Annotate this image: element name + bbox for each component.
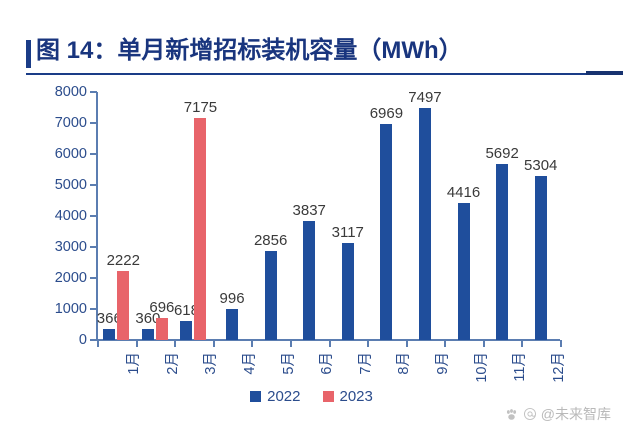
bar-2023-1月[interactable] [117, 271, 129, 340]
data-label-2022-11月: 5692 [485, 145, 518, 162]
watermark-label: @未来智库 [541, 404, 611, 424]
x-axis-tick [367, 340, 369, 347]
bar-2022-5月[interactable] [265, 251, 277, 340]
y-axis-tick [90, 339, 97, 341]
watermark: @未来智库 [504, 404, 611, 424]
x-axis-label-8月: 8月 [392, 352, 413, 375]
bar-2022-1月[interactable] [103, 329, 115, 340]
bar-2022-8月[interactable] [380, 124, 392, 340]
x-axis-tick [97, 340, 99, 347]
x-axis-tick [174, 340, 176, 347]
data-label-2022-10月: 4416 [447, 184, 480, 201]
legend-label-2022: 2022 [267, 388, 300, 405]
y-axis-tick [90, 246, 97, 248]
bar-2022-3月[interactable] [180, 321, 192, 340]
plot-area: 0100020003000400050006000700080003662222… [97, 92, 560, 340]
y-axis-tick-label: 5000 [55, 177, 87, 193]
x-axis-tick [136, 340, 138, 347]
x-axis-label-4月: 4月 [238, 352, 259, 375]
data-label-2023-2月: 696 [149, 299, 174, 316]
x-axis-label-10月: 10月 [470, 352, 491, 383]
x-axis-tick [483, 340, 485, 347]
data-label-2022-5月: 2856 [254, 232, 287, 249]
x-axis-label-3月: 3月 [199, 352, 220, 375]
x-axis-tick [560, 340, 562, 347]
x-axis-label-5月: 5月 [277, 352, 298, 375]
x-axis-label-9月: 9月 [431, 352, 452, 375]
x-axis-tick [329, 340, 331, 347]
x-axis-tick [406, 340, 408, 347]
x-axis-label-12月: 12月 [547, 352, 568, 383]
bar-2022-11月[interactable] [496, 164, 508, 340]
bar-2023-3月[interactable] [194, 118, 206, 340]
bar-2022-7月[interactable] [342, 243, 354, 340]
data-label-2022-9月: 7497 [408, 89, 441, 106]
data-label-2022-6月: 3837 [293, 202, 326, 219]
legend-item-2023[interactable]: 2023 [323, 388, 373, 405]
data-label-2023-3月: 7175 [184, 99, 217, 116]
y-axis-tick-label: 6000 [55, 146, 87, 162]
y-axis-tick [90, 91, 97, 93]
bar-2022-12月[interactable] [535, 176, 547, 340]
y-axis-tick-label: 1000 [55, 301, 87, 317]
y-axis-tick [90, 215, 97, 217]
at-icon [523, 407, 537, 421]
y-axis-tick-label: 3000 [55, 239, 87, 255]
bar-2022-2月[interactable] [142, 329, 154, 340]
bar-2023-2月[interactable] [156, 318, 168, 340]
bar-2022-9月[interactable] [419, 108, 431, 340]
x-axis-tick [213, 340, 215, 347]
x-axis-label-11月: 11月 [508, 352, 529, 382]
y-axis-tick-label: 7000 [55, 115, 87, 131]
bar-2022-6月[interactable] [303, 221, 315, 340]
bar-chart: 0100020003000400050006000700080003662222… [0, 0, 623, 434]
x-axis-label-2月: 2月 [161, 352, 182, 375]
legend-swatch-2022 [250, 391, 261, 402]
x-axis-label-1月: 1月 [122, 352, 143, 375]
y-axis-tick-label: 8000 [55, 84, 87, 100]
legend-swatch-2023 [323, 391, 334, 402]
x-axis-label-6月: 6月 [315, 352, 336, 375]
data-label-2022-4月: 996 [220, 290, 245, 307]
y-axis-tick-label: 4000 [55, 208, 87, 224]
data-label-2022-8月: 6969 [370, 105, 403, 122]
y-axis-tick [90, 184, 97, 186]
chart-legend: 20222023 [0, 388, 623, 405]
legend-item-2022[interactable]: 2022 [250, 388, 300, 405]
x-axis-tick [521, 340, 523, 347]
x-axis-label-7月: 7月 [354, 352, 375, 375]
data-label-2022-12月: 5304 [524, 157, 557, 174]
paw-icon [504, 407, 519, 422]
x-axis-tick [251, 340, 253, 347]
legend-label-2023: 2023 [340, 388, 373, 405]
y-axis-tick [90, 277, 97, 279]
y-axis-tick-label: 2000 [55, 270, 87, 286]
y-axis-tick [90, 153, 97, 155]
data-label-2022-7月: 3117 [332, 224, 364, 241]
bar-2022-10月[interactable] [458, 203, 470, 340]
bar-2022-4月[interactable] [226, 309, 238, 340]
x-axis-tick [444, 340, 446, 347]
data-label-2023-1月: 2222 [107, 252, 140, 269]
y-axis-tick-label: 0 [79, 332, 87, 348]
y-axis-tick [90, 122, 97, 124]
x-axis-tick [290, 340, 292, 347]
